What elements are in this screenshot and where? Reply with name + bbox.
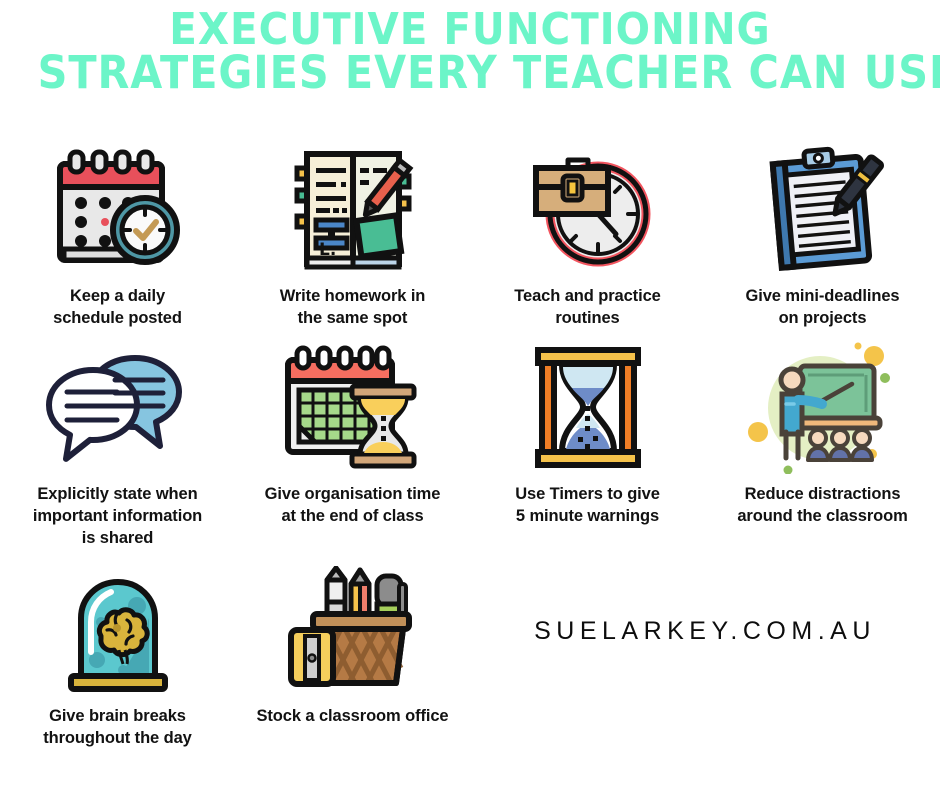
caption-line: around the classroom: [737, 506, 907, 528]
caption-line: Reduce distractions: [737, 484, 907, 506]
caption-line: throughout the day: [43, 728, 192, 750]
caption-line: on projects: [746, 308, 900, 330]
strategy-row-3: Give brain breaks throughout the day: [0, 566, 940, 750]
strategy-caption: Keep a daily schedule posted: [53, 286, 182, 330]
strategy-item: L. Write homework in the same spot: [235, 146, 470, 330]
strategy-caption: Teach and practice routines: [514, 286, 660, 330]
title-line-2: STRATEGIES EVERY TEACHER CAN USE: [38, 51, 903, 95]
strategy-caption: Write homework in the same spot: [280, 286, 426, 330]
website-url: SUELARKEY.COM.AU: [470, 566, 940, 696]
strategy-item: Stock a classroom office: [235, 566, 470, 750]
caption-line: Explicitly state when: [33, 484, 202, 506]
strategy-item: Teach and practice routines: [470, 146, 705, 330]
strategy-item: Give brain breaks throughout the day: [0, 566, 235, 750]
caption-line: Use Timers to give: [515, 484, 660, 506]
caption-line: schedule posted: [53, 308, 182, 330]
notebook-pencil-icon: L.: [283, 146, 423, 276]
hourglass-timer-icon: [528, 344, 648, 474]
strategy-caption: Use Timers to give 5 minute warnings: [515, 484, 660, 528]
caption-line: at the end of class: [265, 506, 441, 528]
title-line-1: EXECUTIVE FUNCTIONING: [38, 8, 903, 51]
calendar-clock-icon: [48, 146, 188, 276]
caption-line: important information: [33, 506, 202, 528]
website-url-text: SUELARKEY.COM.AU: [534, 617, 876, 646]
supplies-basket-icon: [283, 566, 423, 696]
caption-line: the same spot: [280, 308, 426, 330]
caption-line: Give brain breaks: [43, 706, 192, 728]
strategy-item: Give mini-deadlines on projects: [705, 146, 940, 330]
caption-line: Keep a daily: [53, 286, 182, 308]
caption-line: Teach and practice: [514, 286, 660, 308]
strategy-caption: Explicitly state when important informat…: [33, 484, 202, 550]
caption-line: is shared: [33, 528, 202, 550]
speech-bubbles-icon: [43, 344, 193, 474]
caption-line: Give mini-deadlines: [746, 286, 900, 308]
strategy-item: Explicitly state when important informat…: [0, 344, 235, 550]
strategy-caption: Give brain breaks throughout the day: [43, 706, 192, 750]
strategy-item: Reduce distractions around the classroom: [705, 344, 940, 550]
strategy-caption: Stock a classroom office: [256, 706, 448, 728]
caption-line: routines: [514, 308, 660, 330]
classroom-teacher-icon: [748, 344, 898, 474]
strategy-item: Keep a daily schedule posted: [0, 146, 235, 330]
poster-title: EXECUTIVE FUNCTIONING STRATEGIES EVERY T…: [0, 8, 940, 95]
strategy-caption: Give mini-deadlines on projects: [746, 286, 900, 330]
caption-line: 5 minute warnings: [515, 506, 660, 528]
brain-jar-icon: [53, 566, 183, 696]
calendar-hourglass-icon: [280, 344, 425, 474]
caption-line: Give organisation time: [265, 484, 441, 506]
strategy-item: Use Timers to give 5 minute warnings: [470, 344, 705, 550]
clipboard-pen-icon: [753, 146, 893, 276]
strategy-item: Give organisation time at the end of cla…: [235, 344, 470, 550]
caption-line: Write homework in: [280, 286, 426, 308]
strategy-row-2: Explicitly state when important informat…: [0, 344, 940, 550]
briefcase-clock-icon: [518, 146, 658, 276]
caption-line: Stock a classroom office: [256, 706, 448, 728]
strategy-caption: Reduce distractions around the classroom: [737, 484, 907, 528]
strategy-row-1: Keep a daily schedule posted: [0, 146, 940, 330]
strategy-caption: Give organisation time at the end of cla…: [265, 484, 441, 528]
infographic-poster: EXECUTIVE FUNCTIONING STRATEGIES EVERY T…: [0, 0, 940, 788]
